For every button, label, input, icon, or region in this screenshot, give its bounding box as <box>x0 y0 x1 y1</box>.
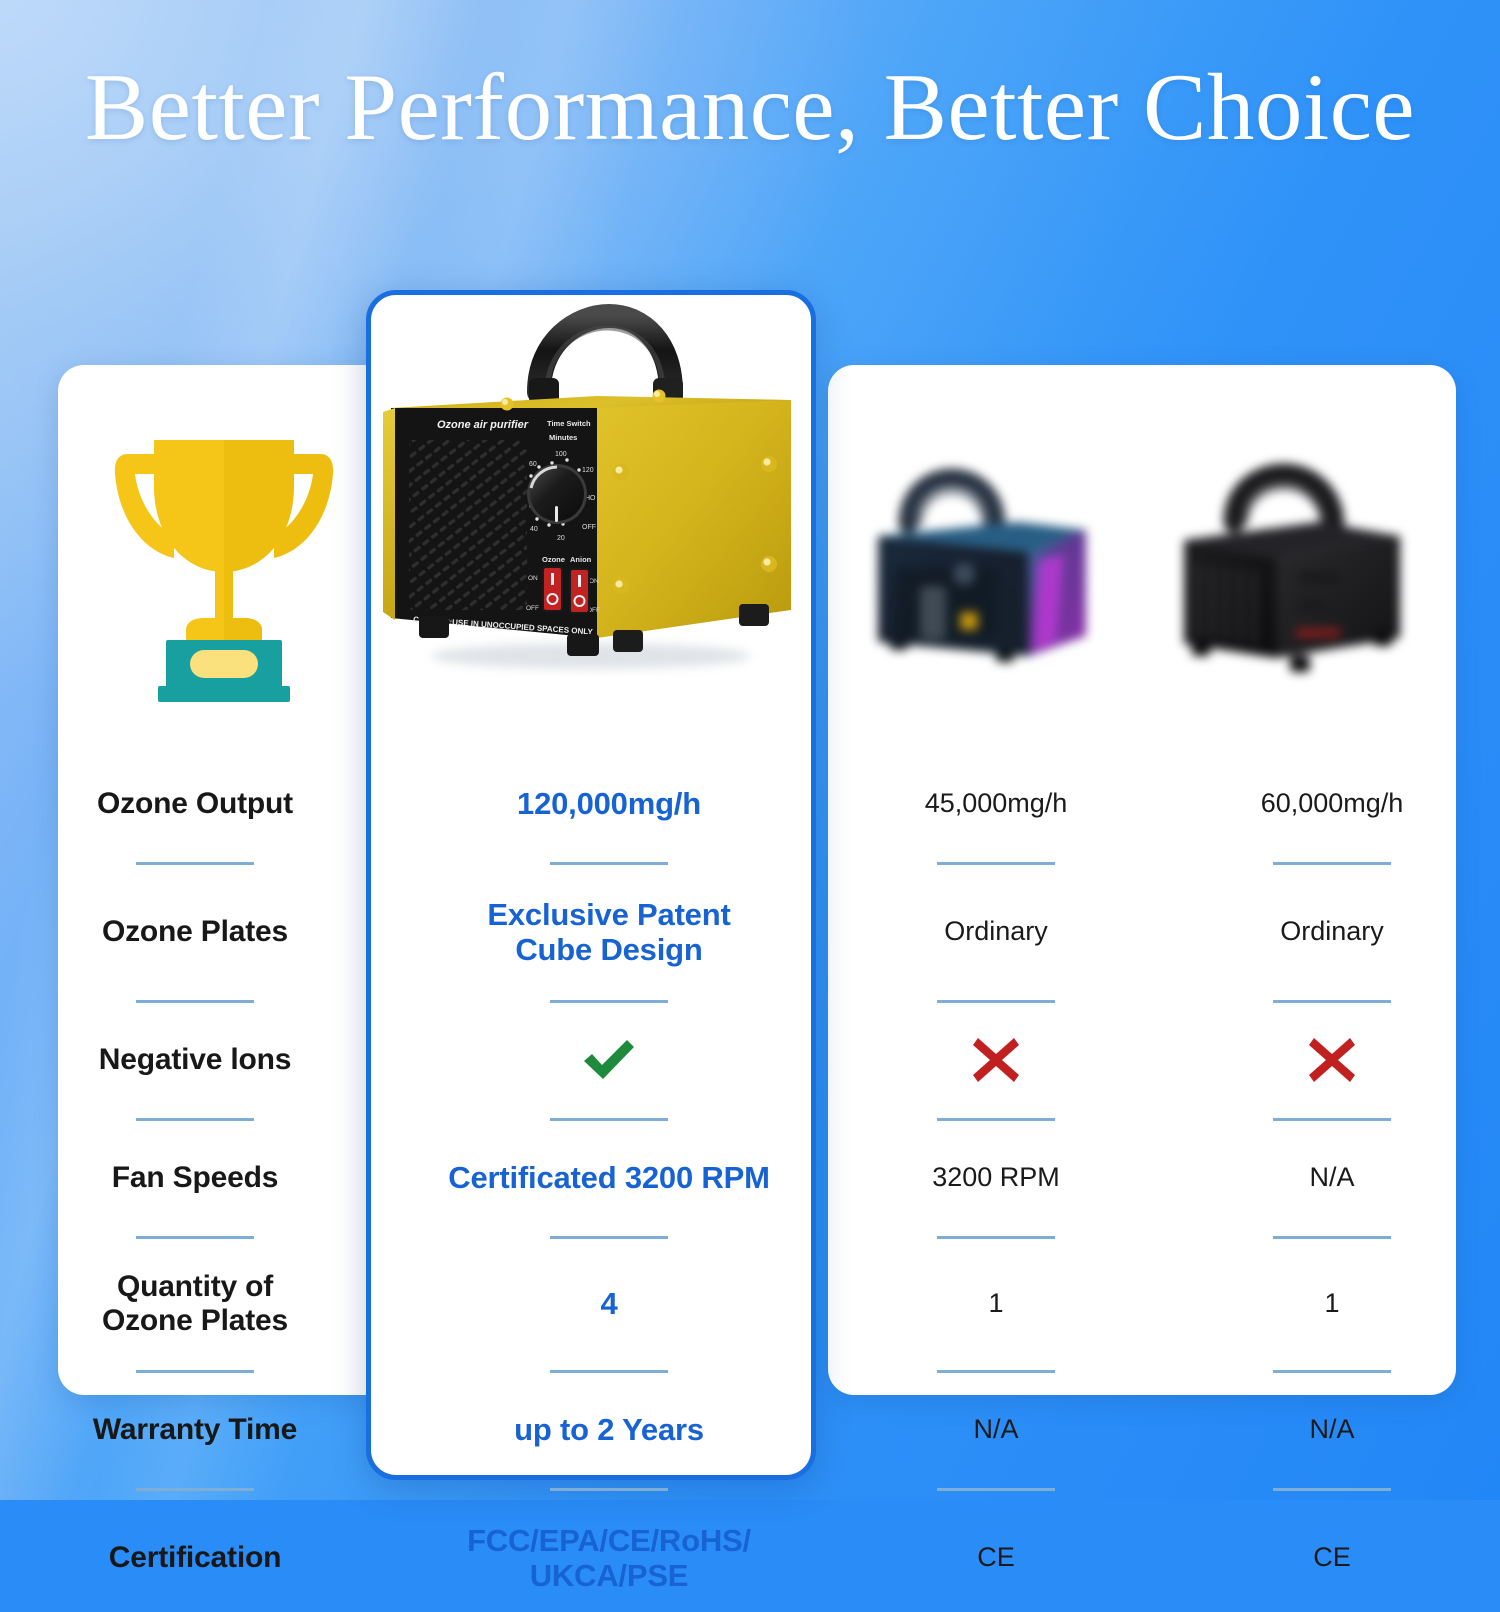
hero-quantity-of-ozone-plates: 4 <box>390 1252 828 1356</box>
rival1-ozone-output-value: 45,000mg/h <box>925 788 1068 819</box>
divider-rival2-col <box>1164 986 1500 1016</box>
table-row: Negative lons <box>0 1016 1500 1104</box>
cross-icon <box>1306 1035 1358 1085</box>
rival2-ozone-output-value: 60,000mg/h <box>1261 788 1404 819</box>
divider-hero-col <box>390 986 828 1016</box>
divider-rival1-col <box>828 1356 1164 1386</box>
anion-rocker-switch <box>569 568 590 614</box>
competitor-product-2-image <box>1168 460 1418 700</box>
comparison-table: Ozone Output120,000mg/h45,000mg/h60,000m… <box>0 760 1500 1612</box>
trophy-icon-container <box>58 395 390 740</box>
hero-ozone-plates: Exclusive PatentCube Design <box>390 878 828 986</box>
competitor-product-1-image <box>868 460 1118 700</box>
divider-label-col <box>0 986 390 1016</box>
feature-label-text: Negative lons <box>99 1043 291 1077</box>
rival1-warranty-time-value: N/A <box>973 1414 1018 1445</box>
divider-hero-col <box>390 848 828 878</box>
divider-label-col <box>0 1104 390 1134</box>
feature-label-ozone-output: Ozone Output <box>0 760 390 848</box>
rival2-warranty-time-value: N/A <box>1309 1414 1354 1445</box>
competitor-images <box>828 430 1456 750</box>
divider-rival1-col <box>828 848 1164 878</box>
svg-text:120: 120 <box>582 467 594 474</box>
row-divider <box>0 848 1500 878</box>
feature-label-text: Ozone Output <box>97 787 293 821</box>
rival2-ozone-plates: Ordinary <box>1164 878 1500 986</box>
feature-label-quantity-of-ozone-plates: Quantity ofOzone Plates <box>0 1252 390 1356</box>
table-row: Ozone PlatesExclusive PatentCube DesignO… <box>0 878 1500 986</box>
row-divider <box>0 1356 1500 1386</box>
feature-label-text: Ozone Plates <box>102 915 288 949</box>
divider-rival1-col <box>828 1104 1164 1134</box>
rival1-quantity-of-ozone-plates-value: 1 <box>988 1288 1003 1319</box>
feature-label-text: Certification <box>109 1541 281 1575</box>
feature-label-negative-lons: Negative lons <box>0 1016 390 1104</box>
rival1-fan-speeds: 3200 RPM <box>828 1134 1164 1222</box>
feature-label-text: Quantity ofOzone Plates <box>102 1270 288 1338</box>
hero-ozone-output-value: 120,000mg/h <box>517 786 701 821</box>
divider-hero-col <box>390 1104 828 1134</box>
svg-text:60: 60 <box>529 461 537 468</box>
rival1-certification-value: CE <box>977 1542 1015 1573</box>
product-illustration: Ozone air purifier Time Switch Minutes 1… <box>371 300 801 700</box>
table-row: Quantity ofOzone Plates411 <box>0 1252 1500 1356</box>
hero-fan-speeds-value: Certificated 3200 RPM <box>448 1160 769 1195</box>
divider-label-col <box>0 1356 390 1386</box>
svg-text:100: 100 <box>555 451 567 458</box>
hero-ozone-output: 120,000mg/h <box>390 760 828 848</box>
divider-label-col <box>0 1222 390 1252</box>
hero-warranty-time-value: up to 2 Years <box>514 1412 704 1447</box>
svg-text:Minutes: Minutes <box>549 433 577 442</box>
divider-rival2-col <box>1164 848 1500 878</box>
rival2-ozone-plates-value: Ordinary <box>1280 916 1384 947</box>
rival2-certification-value: CE <box>1313 1542 1351 1573</box>
hero-fan-speeds: Certificated 3200 RPM <box>390 1134 828 1222</box>
rival1-warranty-time: N/A <box>828 1386 1164 1474</box>
svg-text:Time Switch: Time Switch <box>547 419 591 428</box>
divider-rival2-col <box>1164 1356 1500 1386</box>
hero-quantity-of-ozone-plates-value: 4 <box>600 1286 617 1321</box>
divider-rival1-col <box>828 1222 1164 1252</box>
cross-icon <box>970 1035 1022 1085</box>
divider-label-col <box>0 848 390 878</box>
rival1-negative-lons <box>828 1016 1164 1104</box>
feature-label-warranty-time: Warranty Time <box>0 1386 390 1474</box>
check-icon <box>580 1037 638 1083</box>
ozone-rocker-switch <box>542 566 563 612</box>
rival2-ozone-output: 60,000mg/h <box>1164 760 1500 848</box>
hero-negative-lons <box>390 1016 828 1104</box>
rival2-certification: CE <box>1164 1504 1500 1612</box>
rival1-ozone-output: 45,000mg/h <box>828 760 1164 848</box>
rival2-warranty-time: N/A <box>1164 1386 1500 1474</box>
svg-text:ON: ON <box>528 575 538 582</box>
ozone-air-purifier-product-image: Ozone air purifier Time Switch Minutes 1… <box>371 300 801 700</box>
rival1-ozone-plates: Ordinary <box>828 878 1164 986</box>
rival2-negative-lons <box>1164 1016 1500 1104</box>
hero-warranty-time: up to 2 Years <box>390 1386 828 1474</box>
cross-icon-wrap <box>970 1035 1022 1085</box>
table-row: Ozone Output120,000mg/h45,000mg/h60,000m… <box>0 760 1500 848</box>
rival1-certification: CE <box>828 1504 1164 1612</box>
table-row: Fan SpeedsCertificated 3200 RPM3200 RPMN… <box>0 1134 1500 1222</box>
feature-label-text: Warranty Time <box>93 1413 297 1447</box>
hero-ozone-plates-value: Exclusive PatentCube Design <box>487 897 730 968</box>
divider-hero-col <box>390 1222 828 1252</box>
rival1-fan-speeds-value: 3200 RPM <box>932 1162 1060 1193</box>
svg-text:OFF: OFF <box>582 524 596 531</box>
svg-text:20: 20 <box>557 535 565 542</box>
check-icon-wrap <box>580 1037 638 1083</box>
comparison-infographic: Better Performance, Better Choice <box>0 0 1500 1500</box>
divider-rival2-col <box>1164 1222 1500 1252</box>
feature-label-certification: Certification <box>0 1504 390 1612</box>
trophy-icon <box>110 428 338 708</box>
feature-label-text: Fan Speeds <box>112 1161 278 1195</box>
rival2-quantity-of-ozone-plates-value: 1 <box>1324 1288 1339 1319</box>
feature-label-ozone-plates: Ozone Plates <box>0 878 390 986</box>
svg-text:Ozone air purifier: Ozone air purifier <box>437 419 529 431</box>
page-title: Better Performance, Better Choice <box>0 58 1500 158</box>
rival2-fan-speeds-value: N/A <box>1309 1162 1354 1193</box>
svg-text:Ozone: Ozone <box>542 555 565 564</box>
svg-text:ON: ON <box>589 578 599 585</box>
divider-rival2-col <box>1164 1104 1500 1134</box>
rival1-ozone-plates-value: Ordinary <box>944 916 1048 947</box>
svg-text:40: 40 <box>530 526 538 533</box>
rival2-fan-speeds: N/A <box>1164 1134 1500 1222</box>
feature-label-fan-speeds: Fan Speeds <box>0 1134 390 1222</box>
row-divider <box>0 1222 1500 1252</box>
rival1-quantity-of-ozone-plates: 1 <box>828 1252 1164 1356</box>
svg-text:OFF: OFF <box>526 605 539 612</box>
divider-hero-col <box>390 1356 828 1386</box>
row-divider <box>0 986 1500 1016</box>
rival2-quantity-of-ozone-plates: 1 <box>1164 1252 1500 1356</box>
table-row: CertificationFCC/EPA/CE/RoHS/UKCA/PSECEC… <box>0 1504 1500 1612</box>
hero-certification: FCC/EPA/CE/RoHS/UKCA/PSE <box>390 1504 828 1612</box>
svg-text:Anion: Anion <box>570 555 592 564</box>
table-row: Warranty Timeup to 2 YearsN/AN/A <box>0 1386 1500 1474</box>
cross-icon-wrap <box>1306 1035 1358 1085</box>
divider-rival1-col <box>828 986 1164 1016</box>
row-divider <box>0 1104 1500 1134</box>
hero-certification-value: FCC/EPA/CE/RoHS/UKCA/PSE <box>467 1523 751 1594</box>
